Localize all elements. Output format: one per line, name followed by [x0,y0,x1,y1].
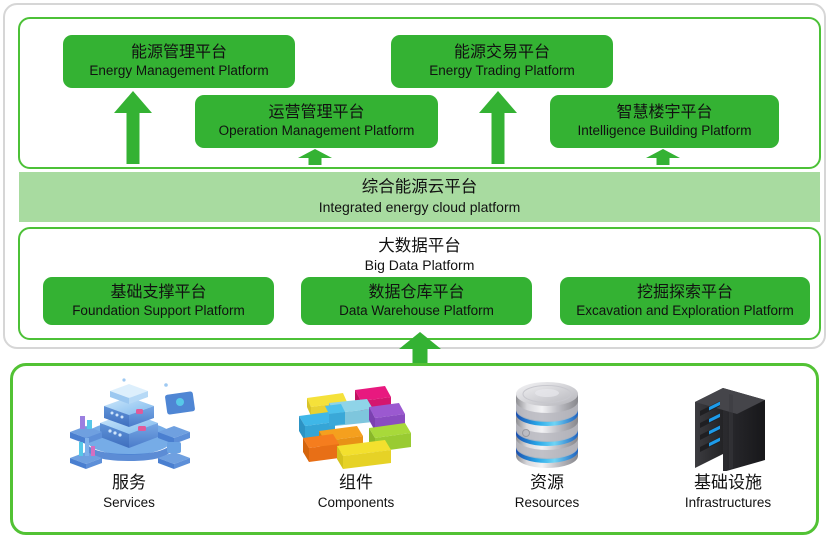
resource-item-resources[interactable]: 资源 Resources [459,376,635,526]
resource-label-en: Resources [515,495,580,511]
box-title-cn: 智慧楼宇平台 [616,104,712,122]
intelligence-building-platform-box[interactable]: 智慧楼宇平台 Intelligence Building Platform [550,95,779,148]
arrow-up-to-big-data-platform [399,332,441,364]
isometric-server-cloud-icon [54,376,204,471]
resource-label-en: Services [103,495,155,511]
resource-layer-card: 服务 Services [10,363,819,535]
resource-label-en: Components [318,495,395,511]
box-title-cn: 运营管理平台 [268,104,364,122]
big-data-platform-band: 大数据平台 Big Data Platform 基础支撑平台 Foundatio… [18,227,821,340]
resource-label: 资源 Resources [515,473,580,510]
box-title-en: Foundation Support Platform [72,303,245,318]
big-data-platform-title: 大数据平台 Big Data Platform [20,237,819,273]
excavation-exploration-platform-box[interactable]: 挖掘探索平台 Excavation and Exploration Platfo… [560,277,810,325]
box-title-en: Intelligence Building Platform [577,123,751,138]
box-title-cn: 能源交易平台 [454,44,550,62]
resource-label-cn: 服务 [103,473,155,493]
box-title-en: Excavation and Exploration Platform [576,303,794,318]
box-title-cn: 数据仓库平台 [368,284,464,302]
resource-item-components[interactable]: 组件 Components [268,376,444,526]
box-title-en: Data Warehouse Platform [339,303,494,318]
server-rack-icon [653,376,803,471]
resource-label-cn: 基础设施 [685,473,771,493]
energy-trading-platform-box[interactable]: 能源交易平台 Energy Trading Platform [391,35,613,88]
big-data-title-cn: 大数据平台 [20,237,819,256]
arrow-up-to-energy-trading [479,91,517,164]
resource-label: 服务 Services [103,473,155,510]
box-title-en: Energy Management Platform [89,63,268,78]
colorful-blocks-icon [281,376,431,471]
resource-label: 组件 Components [318,473,395,510]
arrow-up-to-energy-management [114,91,152,164]
resource-item-services[interactable]: 服务 Services [41,376,217,526]
resource-item-infrastructures[interactable]: 基础设施 Infrastructures [640,376,816,526]
box-title-cn: 能源管理平台 [131,44,227,62]
box-title-en: Operation Management Platform [219,123,415,138]
big-data-title-en: Big Data Platform [20,257,819,273]
cloud-band-title-en: Integrated energy cloud platform [319,199,521,215]
platform-stack-frame: 能源管理平台 Energy Management Platform 能源交易平台… [3,3,826,349]
integrated-energy-cloud-platform-band: 综合能源云平台 Integrated energy cloud platform [19,172,820,222]
resource-label-cn: 资源 [515,473,580,493]
foundation-support-platform-box[interactable]: 基础支撑平台 Foundation Support Platform [43,277,274,325]
energy-management-platform-box[interactable]: 能源管理平台 Energy Management Platform [63,35,295,88]
resource-label-en: Infrastructures [685,495,771,511]
application-platform-band: 能源管理平台 Energy Management Platform 能源交易平台… [18,17,821,169]
operation-management-platform-box[interactable]: 运营管理平台 Operation Management Platform [195,95,438,148]
cloud-band-title-cn: 综合能源云平台 [362,178,478,197]
arrow-up-to-intelligence-building [646,149,680,165]
box-title-en: Energy Trading Platform [429,63,575,78]
box-title-cn: 基础支撑平台 [110,284,206,302]
database-stack-icon [472,376,622,471]
resource-label-cn: 组件 [318,473,395,493]
data-warehouse-platform-box[interactable]: 数据仓库平台 Data Warehouse Platform [301,277,532,325]
architecture-diagram: 能源管理平台 Energy Management Platform 能源交易平台… [0,0,829,543]
arrow-up-to-operation-management [298,149,332,165]
box-title-cn: 挖掘探索平台 [637,284,733,302]
resource-label: 基础设施 Infrastructures [685,473,771,510]
